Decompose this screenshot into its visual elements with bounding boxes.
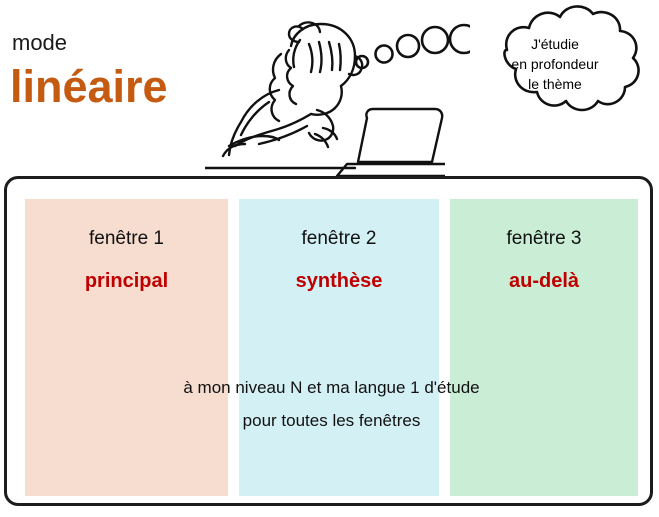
windows-panel: fenêtre 1 principal fenêtre 2 synthèse f…	[4, 176, 653, 506]
window-columns: fenêtre 1 principal fenêtre 2 synthèse f…	[25, 199, 638, 496]
page-title: linéaire	[10, 62, 168, 112]
window-1-title: fenêtre 1	[25, 227, 228, 251]
thought-line-3: le thème	[475, 74, 635, 94]
window-2-subtitle: synthèse	[239, 269, 439, 293]
thought-line-1: J'étudie	[475, 34, 635, 54]
window-3-title: fenêtre 3	[450, 227, 638, 251]
window-column-1[interactable]: fenêtre 1 principal	[25, 199, 228, 496]
mode-label: mode	[12, 30, 67, 56]
thought-bubble: J'étudie en profondeur le thème	[455, 4, 655, 139]
window-3-subtitle: au-delà	[450, 269, 638, 293]
thought-bubble-text: J'étudie en profondeur le thème	[475, 34, 635, 94]
header: mode linéaire	[0, 0, 659, 176]
thought-dots-icon	[340, 20, 470, 80]
window-2-title: fenêtre 2	[239, 227, 439, 251]
thought-line-2: en profondeur	[475, 54, 635, 74]
window-column-2[interactable]: fenêtre 2 synthèse	[239, 199, 439, 496]
window-column-3[interactable]: fenêtre 3 au-delà	[450, 199, 638, 496]
window-1-subtitle: principal	[25, 269, 228, 293]
